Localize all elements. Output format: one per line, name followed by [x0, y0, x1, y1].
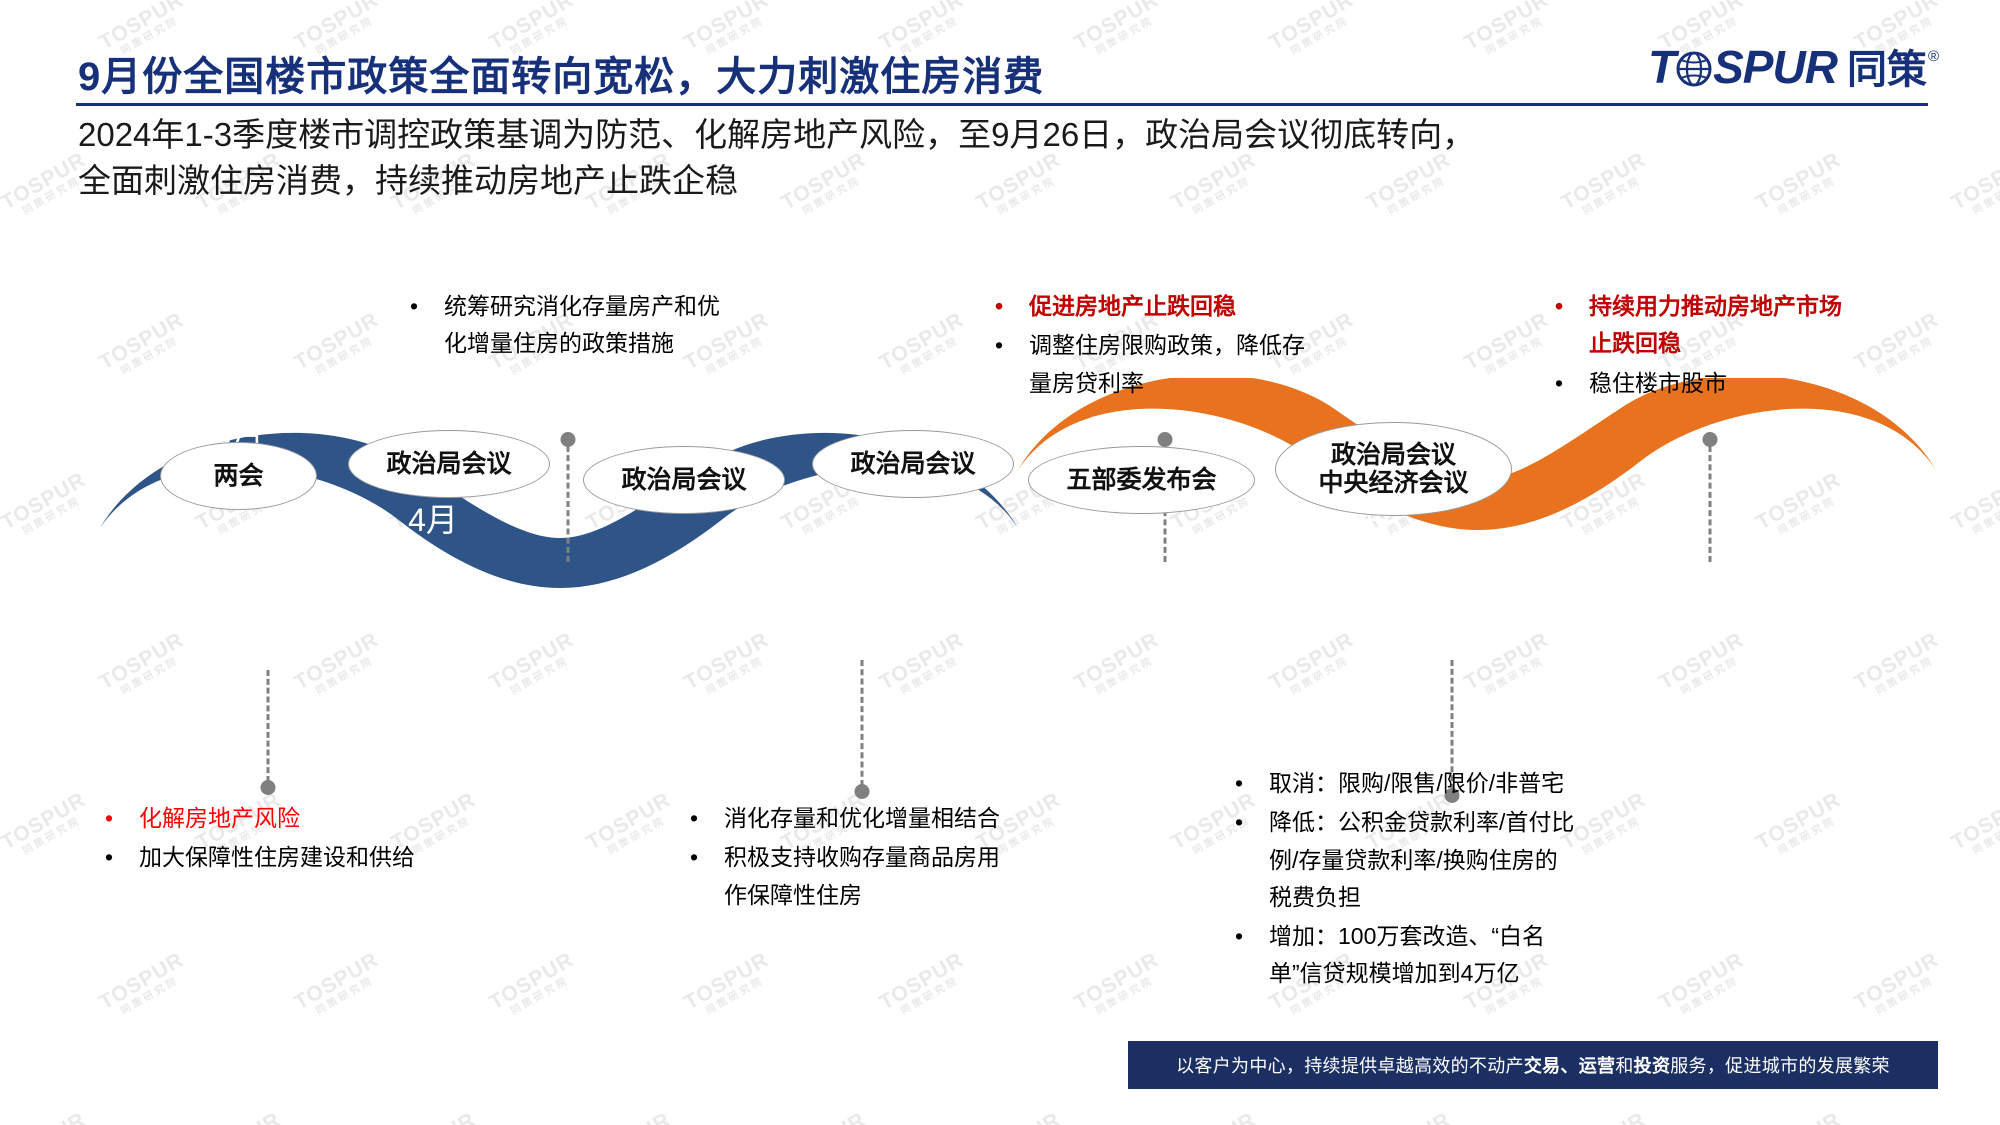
bullet-item: • 增加：100万套改造、“白名单”信贷规模增加到4万亿	[1235, 918, 1575, 993]
watermark-mark: TOSPUR同策研究院	[680, 949, 777, 1024]
watermark-mark: TOSPUR同策研究院	[1655, 629, 1752, 704]
connector-dot	[561, 432, 576, 447]
bullet-item: • 消化存量和优化增量相结合	[690, 800, 1020, 837]
connector-december-up	[1700, 432, 1720, 562]
watermark-mark: TOSPUR同策研究院	[290, 949, 387, 1024]
bullet-item: • 调整住房限购政策，降低存量房贷利率	[995, 327, 1315, 402]
watermark-mark: TOSPUR同策研究院	[1948, 789, 2000, 864]
bullet-text: 加大保障性住房建设和供给	[139, 839, 435, 876]
subtitle-line-2: 全面刺激住房消费，持续推动房地产止跌企稳	[78, 158, 1718, 204]
watermark-mark: TOSPUR同策研究院	[1363, 1109, 1460, 1125]
callout-april-top: • 统筹研究消化存量房产和优化增量住房的政策措施	[410, 288, 730, 365]
connector-dot	[1158, 432, 1173, 447]
bullet-item: • 持续用力推动房地产市场止跌回稳	[1555, 288, 1845, 363]
watermark-mark: TOSPUR同策研究院	[193, 1109, 290, 1125]
bullet-item: • 统筹研究消化存量房产和优化增量住房的政策措施	[410, 288, 730, 363]
watermark-mark: TOSPUR同策研究院	[1070, 0, 1167, 64]
tospur-logo: T SPUR 同策 ®	[1648, 44, 1938, 90]
watermark-mark: TOSPUR同策研究院	[388, 1109, 485, 1125]
connector-dot	[1703, 432, 1718, 447]
watermark-mark: TOSPUR同策研究院	[95, 309, 192, 384]
connector-july-down	[852, 660, 872, 800]
watermark-mark: TOSPUR同策研究院	[680, 629, 777, 704]
watermark-mark: TOSPUR同策研究院	[1753, 789, 1850, 864]
event-node-politburo-september[interactable]: 政治局会议	[812, 430, 1014, 498]
bullet-marker: •	[690, 800, 724, 837]
watermark-mark: TOSPUR同策研究院	[1753, 149, 1850, 224]
page-subtitle: 2024年1-3季度楼市调控政策基调为防范、化解房地产风险，至9月26日，政治局…	[78, 112, 1718, 203]
watermark-mark: TOSPUR同策研究院	[875, 949, 972, 1024]
connector-dot	[261, 780, 276, 795]
connector-april-up	[558, 432, 578, 562]
bullet-marker: •	[105, 800, 139, 837]
watermark-mark: TOSPUR同策研究院	[95, 629, 192, 704]
watermark-mark: TOSPUR同策研究院	[1265, 0, 1362, 64]
footer-bold-2: 投资	[1634, 1056, 1671, 1076]
watermark-mark: TOSPUR同策研究院	[1850, 629, 1947, 704]
watermark-mark: TOSPUR同策研究院	[1948, 1109, 2000, 1125]
watermark-mark: TOSPUR同策研究院	[583, 1109, 680, 1125]
watermark-mark: TOSPUR同策研究院	[0, 789, 95, 864]
watermark-mark: TOSPUR同策研究院	[875, 309, 972, 384]
callout-december-top: • 持续用力推动房地产市场止跌回稳 • 稳住楼市股市	[1555, 288, 1845, 404]
connector-line	[861, 660, 864, 786]
callout-march-bottom: • 化解房地产风险 • 加大保障性住房建设和供给	[105, 800, 435, 879]
watermark-mark: TOSPUR同策研究院	[1460, 309, 1557, 384]
connector-march-down	[258, 670, 278, 796]
bullet-text: 化解房地产风险	[139, 800, 435, 837]
bullet-item: • 促进房地产止跌回稳	[995, 288, 1315, 325]
watermark-mark: TOSPUR同策研究院	[973, 1109, 1070, 1125]
watermark-mark: TOSPUR同策研究院	[1460, 0, 1557, 64]
event-label: 五部委发布会	[1066, 466, 1216, 494]
watermark-mark: TOSPUR同策研究院	[1460, 629, 1557, 704]
connector-line	[267, 670, 270, 782]
watermark-mark: TOSPUR同策研究院	[485, 949, 582, 1024]
footer-part-1: 以客户为中心，持续提供卓越高效的不动产	[1176, 1056, 1524, 1076]
connector-line	[1709, 446, 1712, 562]
event-label: 两会	[213, 462, 263, 490]
logo-chinese: 同策	[1847, 50, 1927, 90]
event-label: 政治局会议	[386, 450, 511, 478]
watermark-mark: TOSPUR同策研究院	[583, 789, 680, 864]
bullet-marker: •	[1235, 804, 1269, 841]
bullet-text: 消化存量和优化增量相结合	[724, 800, 1020, 837]
bullet-marker: •	[1555, 288, 1589, 325]
bullet-item: • 取消：限购/限售/限价/非普宅	[1235, 765, 1575, 802]
event-label: 政治局会议 中央经济会议	[1318, 441, 1468, 497]
watermark-mark: TOSPUR同策研究院	[1753, 1109, 1850, 1125]
bullet-item: • 化解房地产风险	[105, 800, 435, 837]
title-divider	[76, 103, 1928, 106]
event-node-five-ministries[interactable]: 五部委发布会	[1028, 446, 1255, 514]
bullet-text: 降低：公积金贷款利率/首付比例/存量贷款利率/换购住房的税费负担	[1269, 804, 1575, 916]
watermark-mark: TOSPUR同策研究院	[0, 1109, 95, 1125]
event-label: 政治局会议	[621, 466, 746, 494]
watermark-mark: TOSPUR同策研究院	[1265, 629, 1362, 704]
watermark-mark: TOSPUR同策研究院	[95, 949, 192, 1024]
watermark-mark: TOSPUR同策研究院	[1070, 949, 1167, 1024]
registered-mark: ®	[1928, 49, 1939, 64]
globe-icon	[1676, 51, 1712, 87]
watermark-mark: TOSPUR同策研究院	[1558, 1109, 1655, 1125]
bullet-marker: •	[995, 288, 1029, 325]
bullet-item: • 加大保障性住房建设和供给	[105, 839, 435, 876]
callout-october-bottom: • 取消：限购/限售/限价/非普宅 • 降低：公积金贷款利率/首付比例/存量贷款…	[1235, 765, 1575, 995]
bullet-text: 取消：限购/限售/限价/非普宅	[1269, 765, 1575, 802]
footer-text: 以客户为中心，持续提供卓越高效的不动产交易、运营和投资服务，促进城市的发展繁荣	[1176, 1052, 1890, 1078]
event-node-politburo-april[interactable]: 政治局会议	[348, 430, 550, 498]
callout-september-top: • 促进房地产止跌回稳 • 调整住房限购政策，降低存量房贷利率	[995, 288, 1315, 404]
event-label: 政治局会议	[850, 450, 975, 478]
watermark-mark: TOSPUR同策研究院	[1070, 629, 1167, 704]
subtitle-line-1: 2024年1-3季度楼市调控政策基调为防范、化解房地产风险，至9月26日，政治局…	[78, 112, 1718, 158]
watermark-mark: TOSPUR同策研究院	[875, 629, 972, 704]
watermark-mark: TOSPUR同策研究院	[485, 629, 582, 704]
watermark-mark: TOSPUR同策研究院	[290, 309, 387, 384]
footer-part-2: 和	[1615, 1056, 1633, 1076]
watermark-mark: TOSPUR同策研究院	[1850, 309, 1947, 384]
logo-letters-spur: SPUR	[1713, 44, 1837, 90]
watermark-mark: TOSPUR同策研究院	[290, 629, 387, 704]
footer-part-3: 服务，促进城市的发展繁荣	[1670, 1056, 1890, 1076]
bullet-item: • 稳住楼市股市	[1555, 365, 1845, 402]
watermark-mark: TOSPUR同策研究院	[1948, 149, 2000, 224]
event-node-politburo-july[interactable]: 政治局会议	[583, 446, 785, 514]
bullet-text: 增加：100万套改造、“白名单”信贷规模增加到4万亿	[1269, 918, 1575, 993]
bullet-text: 持续用力推动房地产市场止跌回稳	[1589, 288, 1845, 363]
watermark-mark: TOSPUR同策研究院	[1168, 1109, 1265, 1125]
bullet-text: 稳住楼市股市	[1589, 365, 1845, 402]
event-node-politburo-december[interactable]: 政治局会议 中央经济会议	[1275, 422, 1512, 516]
bullet-marker: •	[995, 327, 1029, 364]
bullet-marker: •	[1235, 918, 1269, 955]
watermark-mark: TOSPUR同策研究院	[1850, 949, 1947, 1024]
bullet-marker: •	[1555, 365, 1589, 402]
bullet-text: 促进房地产止跌回稳	[1029, 288, 1315, 325]
footer-banner: 以客户为中心，持续提供卓越高效的不动产交易、运营和投资服务，促进城市的发展繁荣	[1128, 1041, 1938, 1089]
page-title: 9月份全国楼市政策全面转向宽松，大力刺激住房消费	[78, 44, 1044, 102]
watermark-mark: TOSPUR同策研究院	[1655, 949, 1752, 1024]
month-label-9: 9月	[835, 495, 945, 541]
bullet-item: • 降低：公积金贷款利率/首付比例/存量贷款利率/换购住房的税费负担	[1235, 804, 1575, 916]
connector-line	[567, 446, 570, 562]
footer-bold-1: 交易、运营	[1524, 1056, 1616, 1076]
watermark-mark: TOSPUR同策研究院	[778, 1109, 875, 1125]
event-node-two-sessions[interactable]: 两会	[160, 442, 317, 510]
bullet-text: 积极支持收购存量商品房用作保障性住房	[724, 839, 1020, 914]
bullet-text: 统筹研究消化存量房产和优化增量住房的政策措施	[444, 288, 730, 363]
logo-letter-t: T	[1648, 44, 1675, 90]
connector-dot	[855, 784, 870, 799]
slide-root: TOSPUR同策研究院TOSPUR同策研究院TOSPUR同策研究院TOSPUR同…	[0, 0, 2000, 1125]
bullet-marker: •	[690, 839, 724, 876]
bullet-item: • 积极支持收购存量商品房用作保障性住房	[690, 839, 1020, 914]
month-label-4: 4月	[378, 495, 488, 541]
callout-july-bottom: • 消化存量和优化增量相结合 • 积极支持收购存量商品房用作保障性住房	[690, 800, 1020, 916]
bullet-marker: •	[1235, 765, 1269, 802]
bullet-marker: •	[105, 839, 139, 876]
bullet-text: 调整住房限购政策，降低存量房贷利率	[1029, 327, 1315, 402]
bullet-marker: •	[410, 288, 444, 325]
